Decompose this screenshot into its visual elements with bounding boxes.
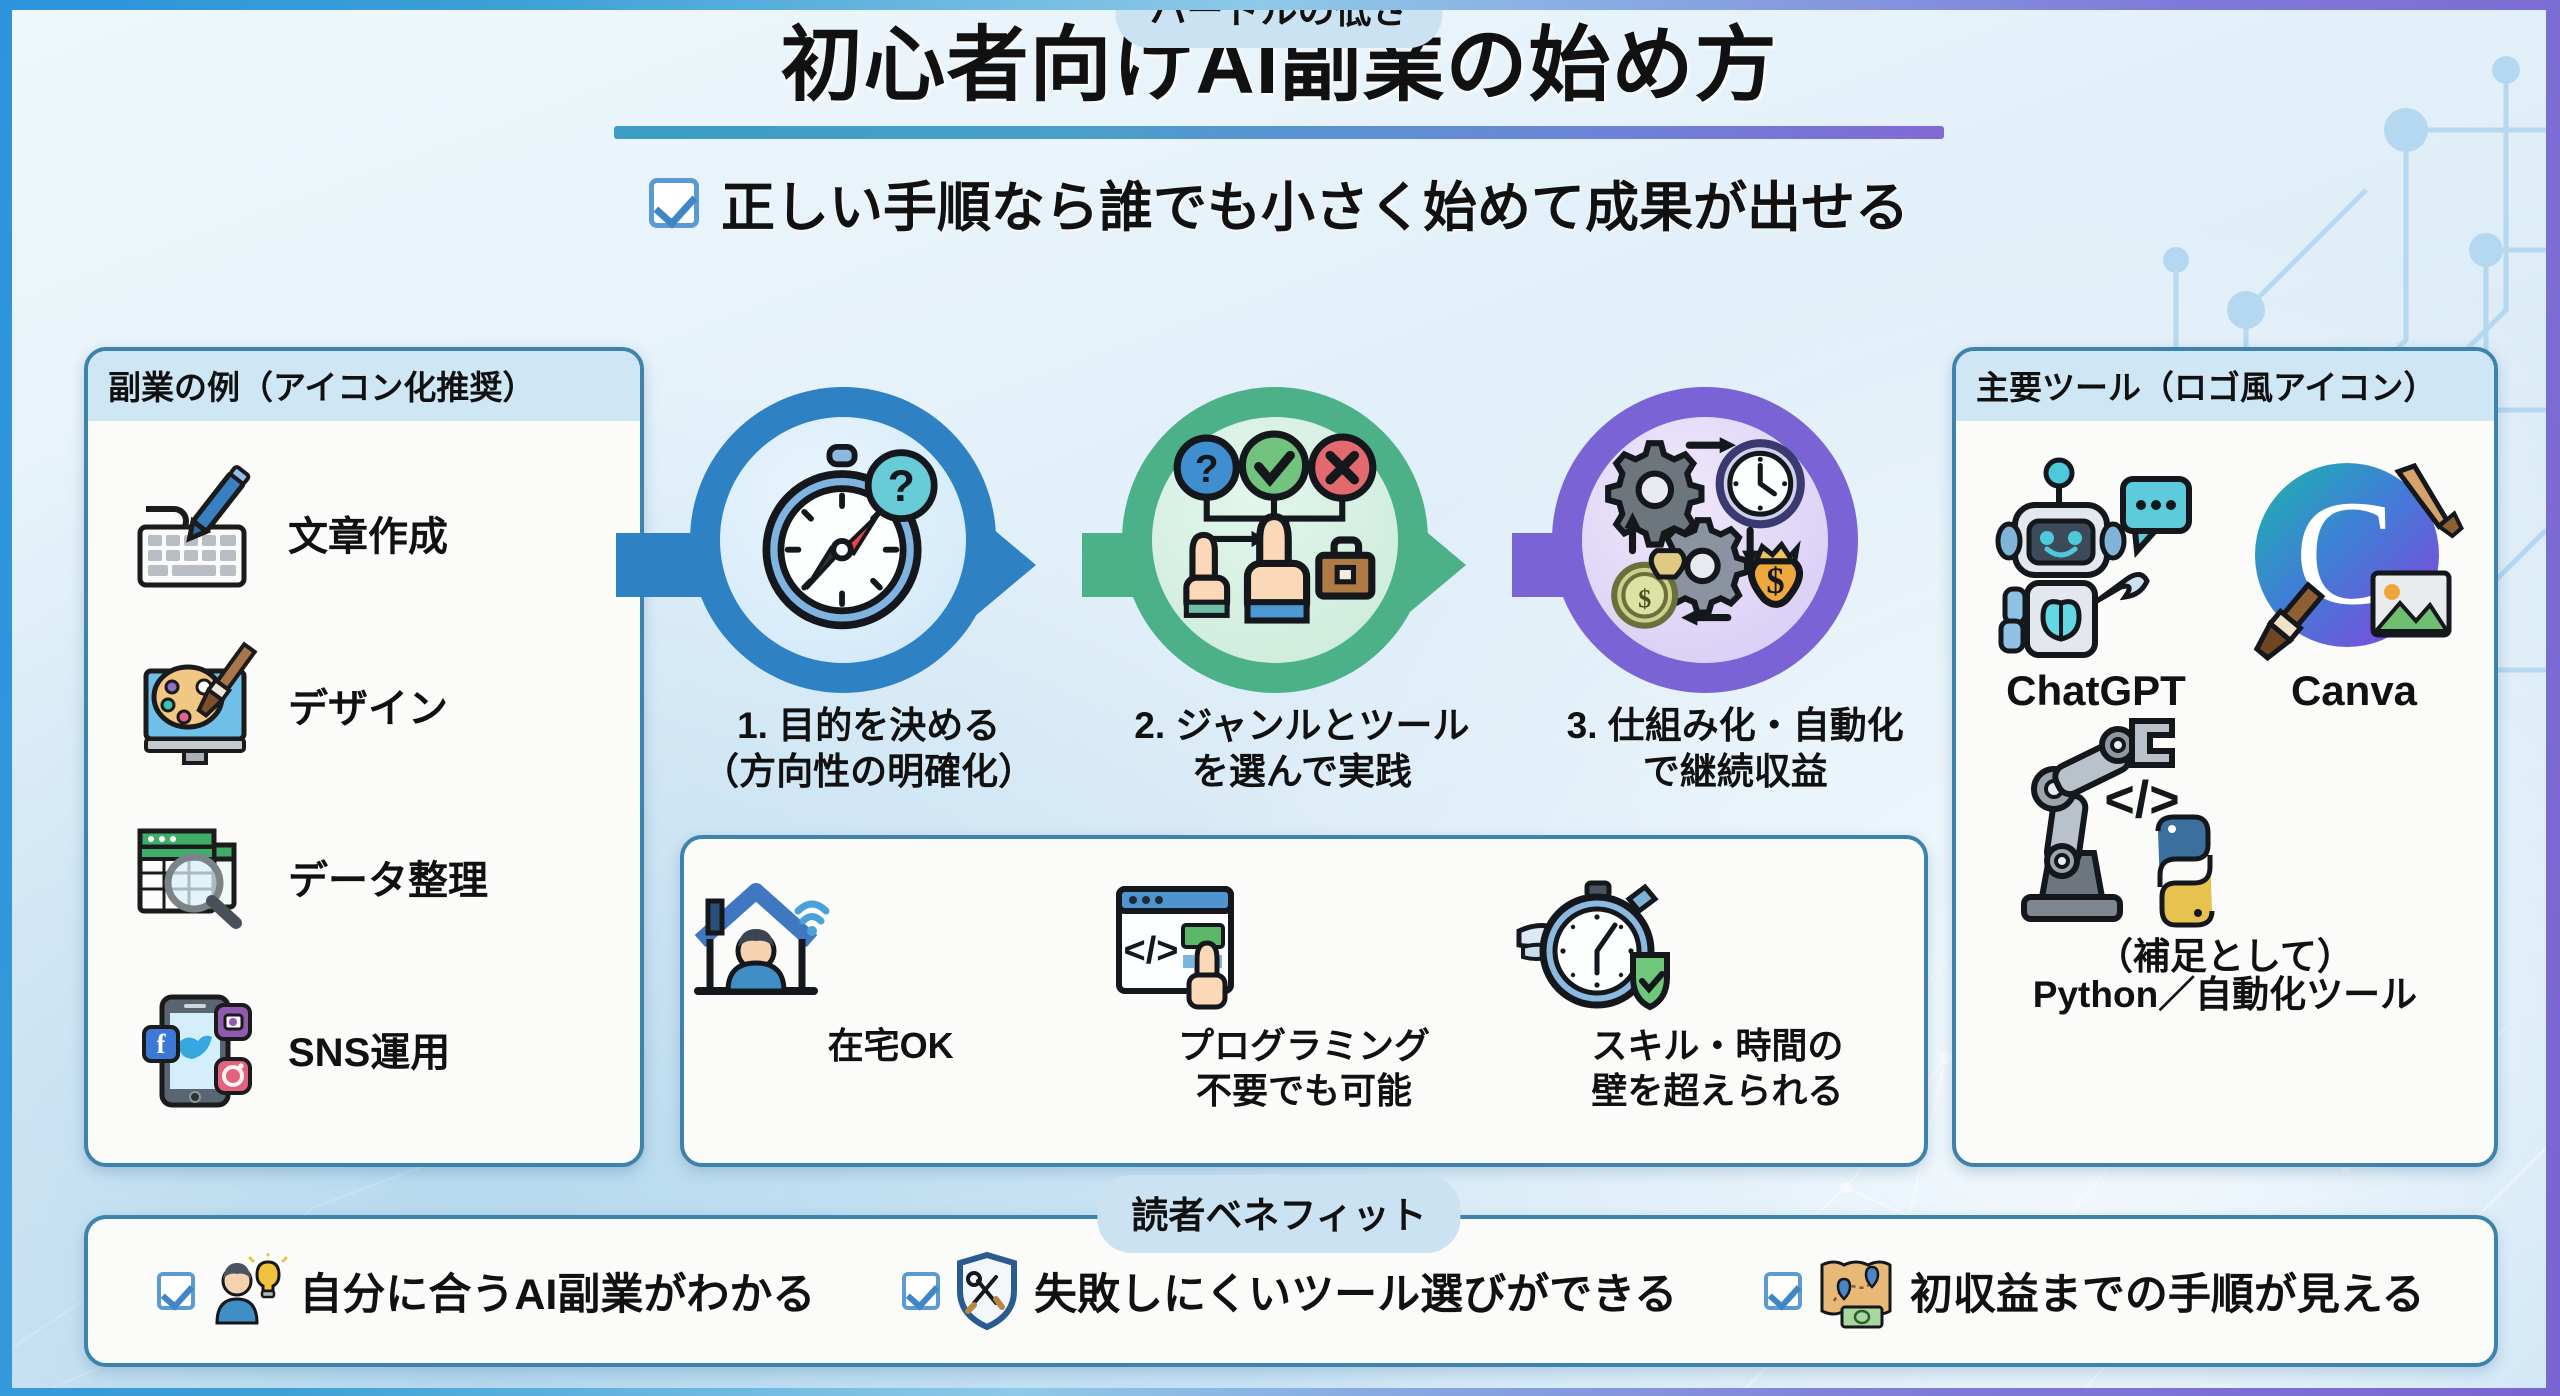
hurdle-label: プログラミング 不要でも可能	[1097, 1023, 1510, 1113]
flow-step-1-node: ?	[690, 387, 996, 693]
canva-logo-icon: C	[2229, 443, 2459, 673]
list-item: 文章作成	[88, 447, 640, 619]
hurdle-item: スキル・時間の 壁を超えられる	[1511, 877, 1924, 1163]
winged-stopwatch-shield-icon	[1511, 877, 1681, 1017]
hurdle-label-line2: 不要でも可能	[1097, 1068, 1510, 1113]
keyboard-pen-icon	[132, 473, 262, 593]
supplement-tool-item: </> （補足として） Python／自動化ツール	[1966, 711, 2484, 1018]
checkbox-checked-icon	[902, 1272, 940, 1310]
flow-step-3-caption: 3. 仕組み化・自動化 で継続収益	[1519, 703, 1952, 796]
flow-step-1-line2: （方向性の明確化）	[652, 749, 1085, 795]
flow-step-1-caption: 1. 目的を決める （方向性の明確化）	[652, 703, 1085, 796]
tool-label: Canva	[2229, 667, 2479, 715]
side-jobs-panel: 副業の例（アイコン化推奨）	[84, 347, 644, 1167]
side-jobs-panel-heading: 副業の例（アイコン化推奨）	[88, 351, 640, 421]
hurdle-tag: ハードルの低さ	[1116, 10, 1443, 48]
treasure-map-money-icon	[1816, 1253, 1896, 1329]
flow-step-2-line1: 2. ジャンルとツール	[1085, 703, 1518, 749]
tool-label: ChatGPT	[1971, 667, 2221, 715]
page-subtitle: 正しい手順なら誰でも小さく始めて成果が出せる	[721, 163, 1909, 242]
house-wifi-person-icon	[684, 877, 844, 1017]
list-item-label: データ整理	[288, 848, 488, 906]
compass-question-icon: ?	[746, 443, 940, 637]
flow-step-3-line1: 3. 仕組み化・自動化	[1519, 703, 1952, 749]
tool-item: C Canva	[2229, 443, 2479, 715]
benefit-item: 初収益までの手順が見える	[1764, 1253, 2425, 1329]
list-item-label: SNS運用	[288, 1020, 450, 1078]
infographic-canvas: 初心者向けAI副業の始め方 正しい手順なら誰でも小さく始めて成果が出せる 副業の…	[12, 10, 2546, 1388]
hurdle-item: 在宅OK	[684, 877, 1097, 1163]
flow-step-3-node: $ $	[1552, 387, 1858, 693]
list-item: データ整理	[88, 791, 640, 963]
benefit-text: 自分に合うAI副業がわかる	[299, 1260, 815, 1322]
process-flow: ? ?	[652, 365, 1952, 765]
list-item: デザイン	[88, 619, 640, 791]
svg-text:</>: </>	[1124, 930, 1179, 972]
flow-step-captions: 1. 目的を決める （方向性の明確化） 2. ジャンルとツール を選んで実践 3…	[652, 703, 1952, 796]
svg-text:f: f	[157, 1029, 167, 1059]
hurdle-label-line2: 壁を超えられる	[1511, 1068, 1924, 1113]
hurdle-label: 在宅OK	[684, 1023, 1097, 1068]
tool-item: ChatGPT	[1971, 443, 2221, 715]
smartphone-social-icon: f	[132, 987, 262, 1111]
list-item-label: 文章作成	[288, 504, 448, 562]
main-tools-panel: 主要ツール（ロゴ風アイコン）	[1952, 347, 2498, 1167]
checkbox-checked-icon	[1764, 1272, 1802, 1310]
benefit-item: 自分に合うAI副業がわかる	[157, 1253, 815, 1329]
hurdle-label-line1: スキル・時間の	[1511, 1023, 1924, 1068]
checkbox-checked-icon	[649, 178, 699, 228]
palette-brush-monitor-icon	[132, 645, 262, 765]
main-tools-panel-heading: 主要ツール（ロゴ風アイコン）	[1956, 351, 2494, 421]
supplement-note-line2: Python／自動化ツール	[1966, 973, 2484, 1017]
benefit-text: 失敗しにくいツール選びができる	[1034, 1260, 1677, 1322]
flow-step-2-line2: を選んで実践	[1085, 749, 1518, 795]
robot-chat-icon	[1971, 443, 2201, 673]
hurdle-label: スキル・時間の 壁を超えられる	[1511, 1023, 1924, 1113]
list-item-label: デザイン	[288, 676, 448, 734]
checkbox-checked-icon	[157, 1272, 195, 1310]
list-item: f SNS運用	[88, 963, 640, 1135]
title-underline	[614, 126, 1944, 139]
flow-step-3-line2: で継続収益	[1519, 749, 1952, 795]
person-lightbulb-icon	[209, 1253, 285, 1329]
outer-frame: 初心者向けAI副業の始め方 正しい手順なら誰でも小さく始めて成果が出せる 副業の…	[0, 0, 2560, 1396]
hands-choice-toolbox-icon: ?	[1168, 433, 1382, 647]
spreadsheet-magnifier-icon	[132, 817, 262, 937]
flow-step-2-caption: 2. ジャンルとツール を選んで実践	[1085, 703, 1518, 796]
benefit-item: 失敗しにくいツール選びができる	[902, 1253, 1677, 1329]
browser-code-cursor-icon: </>	[1097, 877, 1257, 1017]
svg-text:$: $	[1638, 584, 1651, 613]
robot-arm-python-icon: </>	[1966, 711, 2236, 941]
flow-step-2-node: ?	[1122, 387, 1428, 693]
hurdle-item: </> プログラミング 不要でも可能	[1097, 877, 1510, 1163]
shield-tools-icon	[954, 1253, 1020, 1329]
hurdle-label-line1: プログラミング	[1097, 1023, 1510, 1068]
svg-text:?: ?	[1195, 448, 1219, 491]
svg-text:$: $	[1766, 560, 1784, 601]
gears-clock-moneybag-icon: $ $	[1596, 431, 1814, 649]
svg-text:?: ?	[888, 462, 915, 511]
benefits-tag: 読者ベネフィット	[1097, 1175, 1460, 1253]
flow-step-1-line1: 1. 目的を決める	[652, 703, 1085, 749]
benefit-text: 初収益までの手順が見える	[1910, 1260, 2425, 1322]
header: 初心者向けAI副業の始め方 正しい手順なら誰でも小さく始めて成果が出せる	[12, 16, 2546, 242]
hurdle-card: 在宅OK </> プログラミング 不要でも可能	[680, 835, 1928, 1167]
